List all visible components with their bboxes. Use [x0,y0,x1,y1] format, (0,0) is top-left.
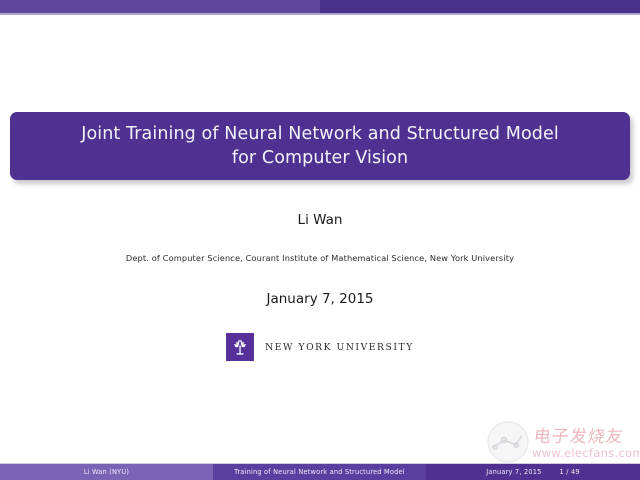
presentation-date: January 7, 2015 [0,291,640,307]
nyu-logo: NEW YORK UNIVERSITY [0,333,640,361]
elecfans-circle-logo [486,420,530,464]
watermark-url: www.elecfans.com [532,446,640,460]
author-name: Li Wan [0,212,640,228]
author-affiliation: Dept. of Computer Science, Courant Insti… [0,253,640,263]
footer-author: Li Wan (NYU) [0,464,213,480]
top-decoration-bar [0,0,640,13]
footer-right-section: January 7, 2015 1 / 49 [426,464,640,480]
torch-icon [226,333,254,361]
presentation-title: Joint Training of Neural Network and Str… [65,122,575,170]
footer-title: Training of Neural Network and Structure… [213,464,426,480]
nyu-wordmark: NEW YORK UNIVERSITY [265,342,414,353]
title-line-2: for Computer Vision [81,146,559,170]
watermark-chinese-text: 电子发烧友 [532,422,625,447]
footer-page-number: 1 / 49 [560,468,580,476]
title-line-1: Joint Training of Neural Network and Str… [81,124,559,144]
slide-footer: Li Wan (NYU) Training of Neural Network … [0,464,640,480]
top-bar-underline [0,13,640,15]
top-bar-right-segment [320,0,640,13]
footer-date: January 7, 2015 [486,468,541,476]
top-bar-left-segment [0,0,320,13]
title-block: Joint Training of Neural Network and Str… [10,112,630,180]
